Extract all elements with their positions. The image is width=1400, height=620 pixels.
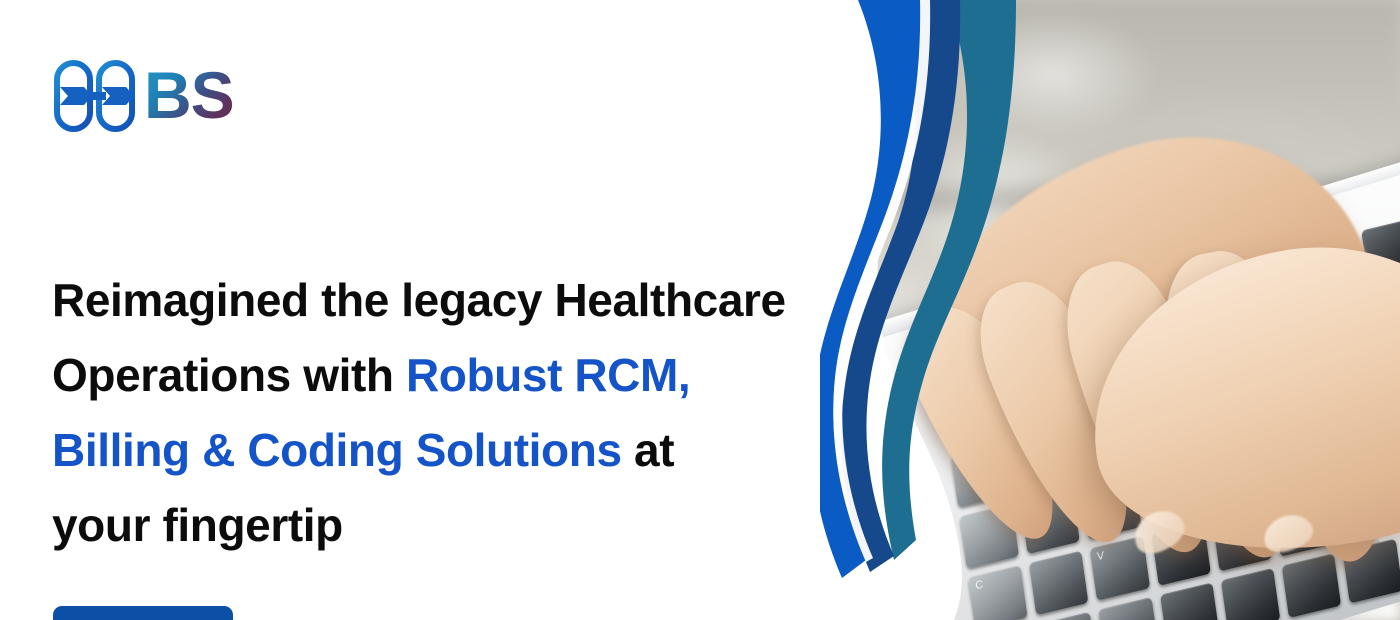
headline-line-2-plain: Operations with xyxy=(52,349,406,401)
cta-button[interactable] xyxy=(53,606,233,620)
brand-logo[interactable]: BS xyxy=(52,58,260,134)
headline-line-3-plain: at xyxy=(622,424,674,476)
page-title: Reimagined the legacy Healthcare Operati… xyxy=(52,263,882,563)
brand-wordmark: BS xyxy=(144,61,260,131)
typing-hands xyxy=(840,0,1400,620)
two-linked-pills-icon xyxy=(52,59,142,133)
hero-content: BS Reimagined the legacy Healthcare Oper… xyxy=(0,0,880,620)
headline-line-1: Reimagined the legacy Healthcare xyxy=(52,274,786,326)
headline-line-3-accent: Billing & Coding Solutions xyxy=(52,424,622,476)
hero-photo: E J D R H S F G A xyxy=(840,0,1400,620)
headline-line-2-accent: Robust RCM, xyxy=(406,349,690,401)
pill-center-link xyxy=(88,92,106,100)
hero-banner: E J D R H S F G A xyxy=(0,0,1400,620)
wordmark-text: BS xyxy=(144,61,234,131)
headline-line-4: your fingertip xyxy=(52,499,343,551)
